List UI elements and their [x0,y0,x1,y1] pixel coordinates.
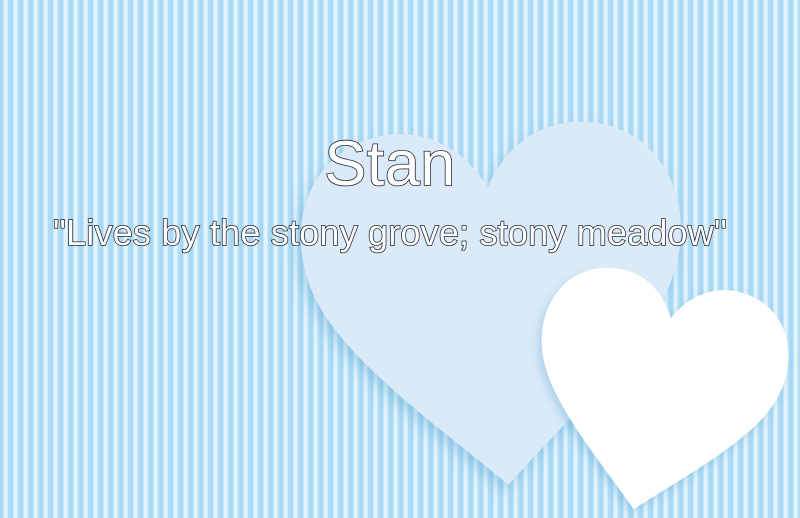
name-meaning-card: Stan "Lives by the stony grove; stony me… [0,0,800,518]
